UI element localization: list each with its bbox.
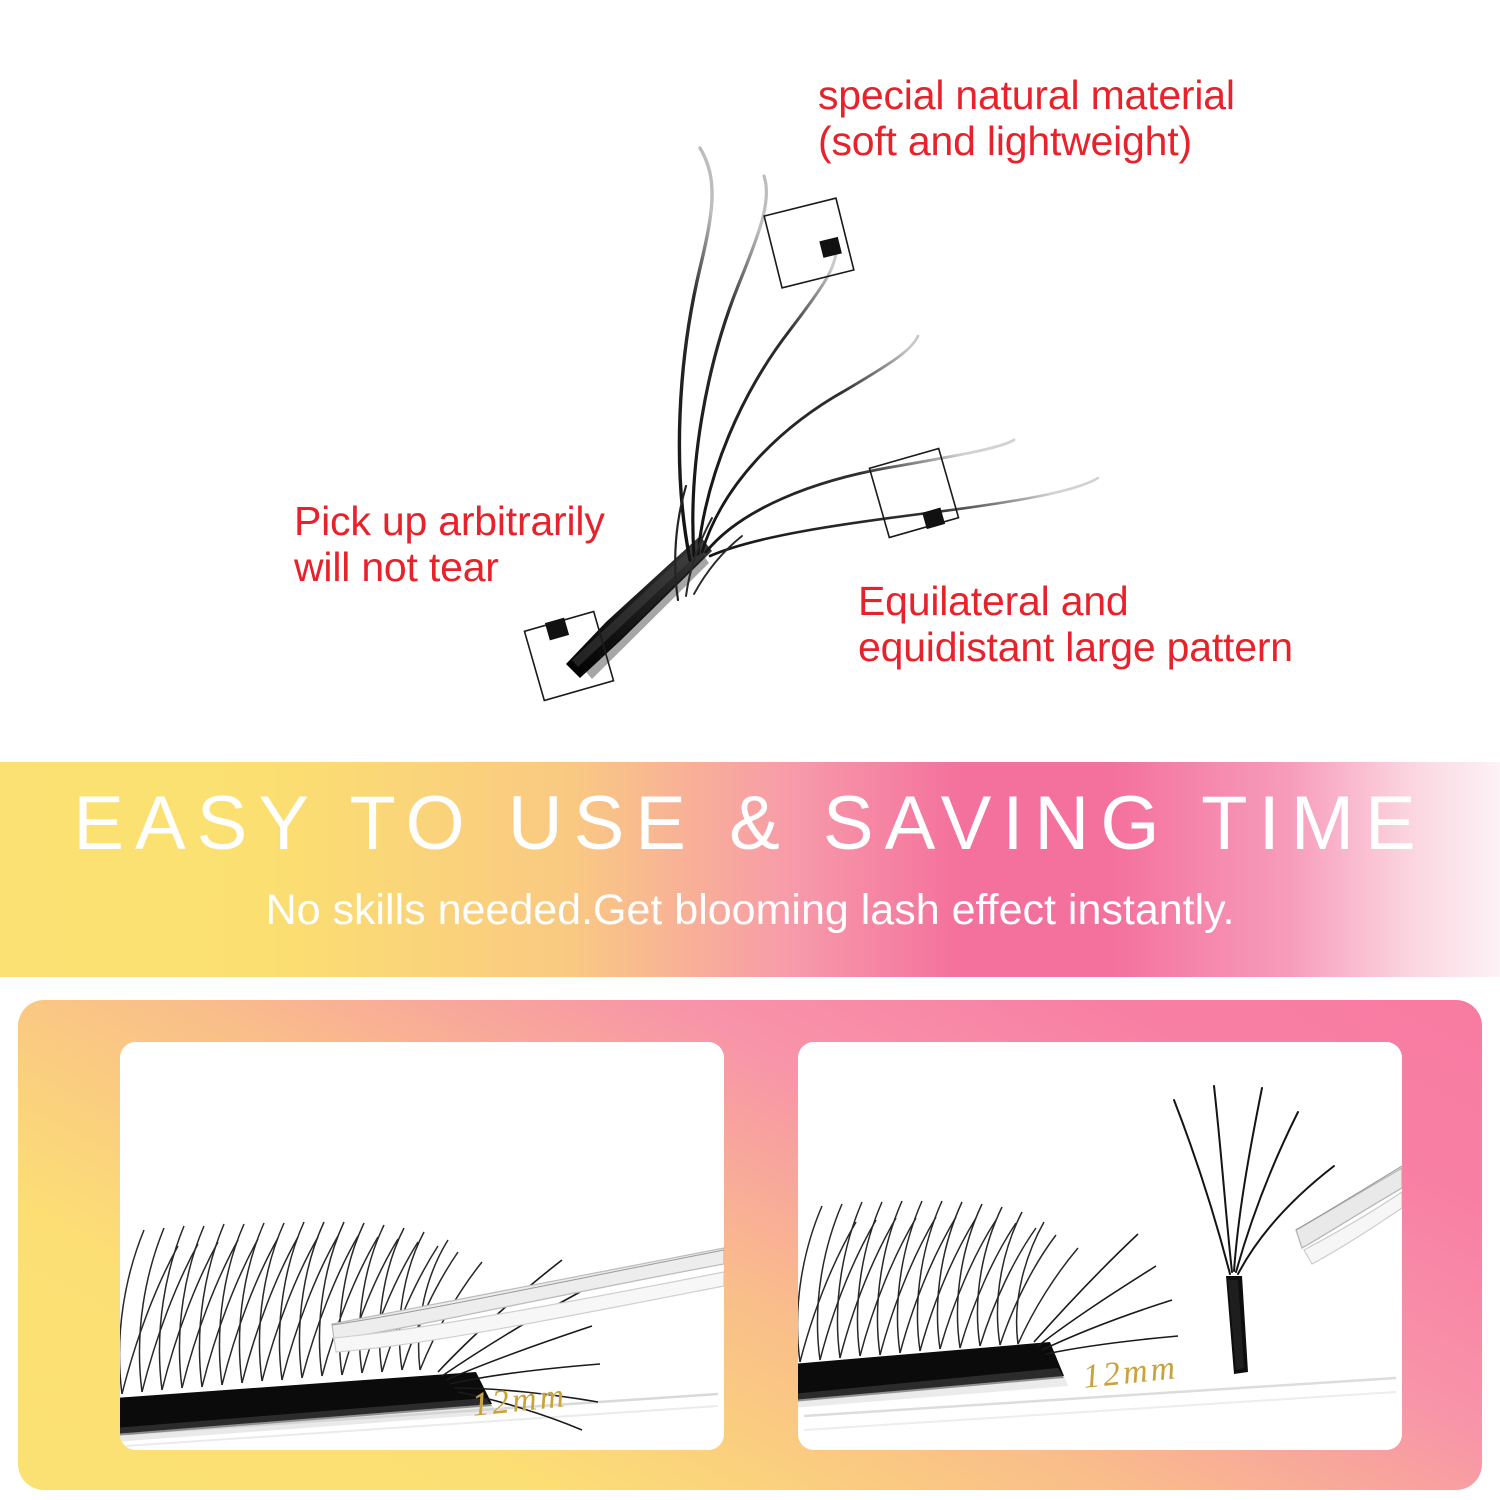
callout-material-line1: special natural material	[818, 72, 1235, 118]
callout-pickup-line2: will not tear	[294, 544, 499, 590]
photo-card-lash-tray: 12mm	[120, 1042, 724, 1450]
callout-material-line2: (soft and lightweight)	[818, 118, 1192, 164]
callout-equilateral-line1: Equilateral and	[858, 578, 1129, 624]
callout-special-natural-material: special natural material (soft and light…	[818, 72, 1235, 165]
callout-equilateral-equidistant: Equilateral and equidistant large patter…	[858, 578, 1293, 671]
banner-headline: EASY TO USE & SAVING TIME	[0, 786, 1500, 862]
headline-banner: EASY TO USE & SAVING TIME No skills need…	[0, 762, 1500, 977]
callout-pick-up-arbitrarily: Pick up arbitrarily will not tear	[294, 498, 605, 591]
lash-strands	[675, 148, 1098, 600]
callout-marker-top	[764, 198, 854, 288]
banner-subtitle: No skills needed.Get blooming lash effec…	[0, 889, 1500, 932]
product-photo-panel: 12mm	[18, 1000, 1482, 1490]
lash-tray-photo	[120, 1042, 724, 1450]
callout-pickup-line1: Pick up arbitrarily	[294, 498, 605, 544]
callout-equilateral-line2: equidistant large pattern	[858, 624, 1293, 670]
photo-card-lash-fan-pickup: 12mm	[798, 1042, 1402, 1450]
lash-diagram-section: special natural material (soft and light…	[0, 0, 1500, 762]
